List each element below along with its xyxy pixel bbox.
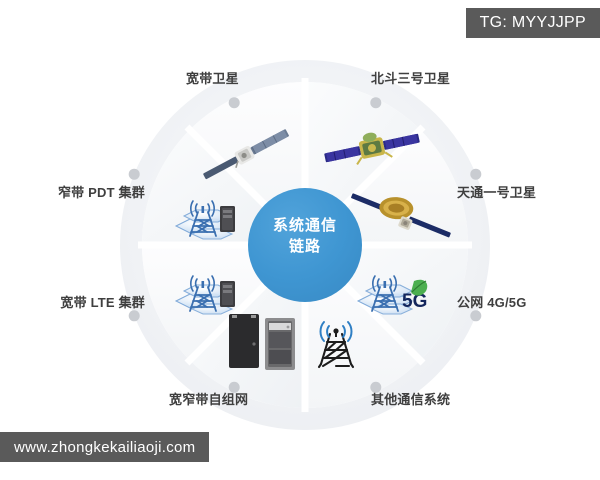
connector-dot-1: [370, 97, 381, 108]
connector-dot-2: [470, 169, 481, 180]
segment-label-other-comm-systems[interactable]: 其他通信系统: [371, 389, 450, 408]
center-hub-circle[interactable]: [248, 188, 362, 302]
segment-label-tiantong1-satellite[interactable]: 天通一号卫星: [457, 182, 536, 201]
connector-dot-3: [470, 310, 481, 321]
segment-label-broadband-satellite[interactable]: 宽带卫星: [186, 68, 239, 87]
segment-label-adhoc-network[interactable]: 宽窄带自组网: [169, 389, 248, 408]
segment-label-broadband-lte-cluster[interactable]: 宽带 LTE 集群: [60, 292, 145, 311]
segment-label-narrowband-pdt-cluster[interactable]: 窄带 PDT 集群: [58, 182, 145, 201]
segment-label-public-4g-5g[interactable]: 公网 4G/5G: [457, 292, 527, 311]
connector-dot-6: [129, 310, 140, 321]
segment-label-beidou3-satellite[interactable]: 北斗三号卫星: [371, 68, 450, 87]
communication-link-wheel-diagram: 5G: [0, 0, 600, 480]
connector-dot-7: [129, 169, 140, 180]
wheel-graphic: 5G: [0, 0, 600, 480]
site-watermark-badge: www.zhongkekailiaoji.com: [0, 432, 209, 462]
connector-dot-0: [229, 97, 240, 108]
